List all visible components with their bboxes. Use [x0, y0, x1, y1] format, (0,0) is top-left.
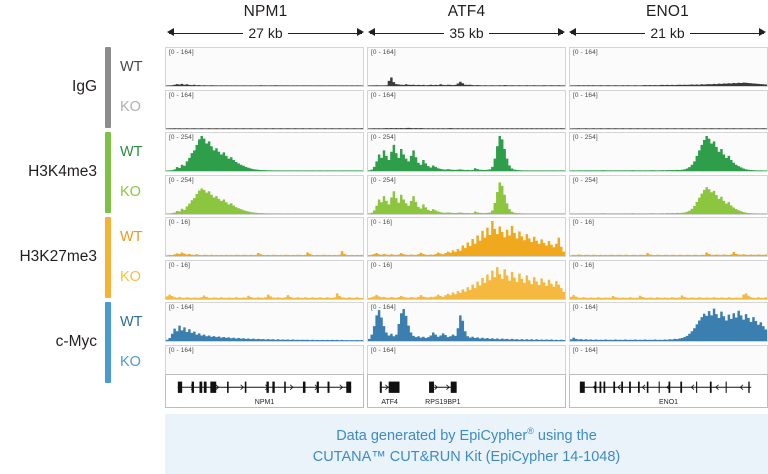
region-gene-label: NPM1: [165, 0, 366, 22]
track-baseline: [166, 255, 363, 256]
condition-label-wt: WT: [120, 132, 165, 172]
track-signal-plot: [570, 91, 767, 129]
track-cell-npm1[interactable]: [0 - 16]: [165, 260, 364, 300]
gene-exon-block: [629, 382, 631, 393]
track-cell-npm1[interactable]: [0 - 164]: [165, 47, 364, 87]
gene-exon-block: [638, 382, 640, 393]
track-scale-label: [0 - 164]: [169, 347, 194, 354]
arrow-left-icon: [569, 28, 576, 36]
track-baseline: [368, 298, 565, 299]
track-signal-plot: [570, 176, 767, 214]
track-signal-plot: [166, 91, 363, 129]
track-cell-npm1[interactable]: [0 - 254]: [165, 175, 364, 215]
gene-exon-block: [317, 382, 319, 393]
gene-model-panel-npm1[interactable]: NPM1: [165, 374, 364, 408]
track-cell-atf4[interactable]: [0 - 164]: [367, 302, 566, 342]
track-cell-atf4[interactable]: [0 - 16]: [367, 217, 566, 257]
condition-label-column: WTKO: [111, 217, 165, 297]
gene-exon-block: [595, 382, 597, 393]
gene-exon-block: [669, 382, 671, 393]
condition-label-ko: KO: [120, 257, 165, 297]
track-baseline: [570, 128, 767, 129]
target-name-label: H3K27me3: [0, 248, 105, 266]
region-span-label: 21 kb: [645, 25, 689, 41]
track-cell-eno1[interactable]: [0 - 164]: [569, 47, 768, 87]
arrow-left-icon: [167, 28, 174, 36]
gene-exon-block: [710, 382, 712, 393]
gene-exon-block: [659, 382, 660, 393]
gene-exon-block: [303, 382, 306, 393]
gene-exon-block: [284, 382, 286, 393]
attribution-footer: Data generated by EpiCypher® using the C…: [165, 414, 768, 474]
track-signal-plot: [368, 91, 565, 129]
gene-model-label: RPS19BP1: [425, 399, 460, 406]
region-span-ruler: 35 kb: [366, 22, 567, 44]
gene-model-panel-eno1[interactable]: ENO1: [569, 374, 768, 408]
gene-exon-block: [451, 382, 457, 393]
condition-label-wt: WT: [120, 217, 165, 257]
gene-exon-block: [178, 382, 182, 393]
track-baseline: [368, 128, 565, 129]
genome-browser-figure: NPM127 kbATF435 kbENO121 kb IgGWTKOH3K4m…: [0, 0, 768, 474]
footer-text-b: using the: [534, 427, 597, 443]
track-scale-label: [0 - 254]: [371, 134, 396, 141]
track-scale-label: [0 - 254]: [573, 177, 598, 184]
track-baseline: [368, 340, 565, 341]
track-row-igg-ko: [0 - 164][0 - 164][0 - 164]: [165, 90, 768, 130]
target-name-label: H3K4me3: [0, 163, 105, 181]
track-baseline: [368, 85, 565, 86]
gene-exon-block: [748, 382, 749, 393]
track-cell-eno1[interactable]: [0 - 164]: [569, 302, 768, 342]
condition-label-ko: KO: [120, 87, 165, 127]
region-header-npm1: NPM127 kb: [165, 0, 366, 46]
track-cell-npm1[interactable]: [0 - 16]: [165, 217, 364, 257]
gene-exon-block: [210, 382, 216, 393]
track-baseline: [368, 170, 565, 171]
gene-exon-block: [192, 382, 194, 393]
gene-exon-block: [429, 382, 434, 393]
gene-exon-block: [389, 382, 400, 393]
track-scale-label: [0 - 164]: [573, 347, 598, 354]
gene-exon-block: [696, 382, 697, 393]
track-baseline: [570, 255, 767, 256]
target-name-label: IgG: [0, 78, 105, 96]
track-scale-label: [0 - 16]: [371, 219, 392, 226]
track-scale-label: [0 - 254]: [573, 134, 598, 141]
footer-line-1: Data generated by EpiCypher® using the: [336, 420, 597, 447]
track-scale-label: [0 - 16]: [169, 219, 190, 226]
arrow-right-icon: [357, 28, 364, 36]
track-baseline: [570, 170, 767, 171]
track-signal-plot: [166, 303, 363, 341]
track-baseline: [166, 213, 363, 214]
track-scale-label: [0 - 164]: [371, 347, 396, 354]
region-span-label: 27 kb: [243, 25, 287, 41]
region-span-ruler: 27 kb: [165, 22, 366, 44]
track-cell-eno1[interactable]: [0 - 16]: [569, 260, 768, 300]
gene-exon-block: [613, 382, 615, 393]
arrow-right-icon: [759, 28, 766, 36]
region-gene-label: ATF4: [366, 0, 567, 22]
track-scale-label: [0 - 16]: [169, 262, 190, 269]
track-signal-plot: [368, 176, 565, 214]
gene-model-label: ENO1: [659, 399, 678, 406]
gene-exon-block: [204, 382, 207, 393]
target-label-column: IgGWTKOH3K4me3WTKOH3K27me3WTKOc-MycWTKO: [0, 47, 165, 377]
region-header-eno1: ENO121 kb: [567, 0, 768, 46]
gene-exon-block: [726, 382, 727, 393]
track-row-h3k27me3-wt: [0 - 16][0 - 16][0 - 16]: [165, 217, 768, 257]
track-baseline: [368, 255, 565, 256]
region-span-ruler: 21 kb: [567, 22, 768, 44]
track-cell-eno1[interactable]: [0 - 254]: [569, 175, 768, 215]
track-scale-label: [0 - 164]: [573, 304, 598, 311]
condition-label-wt: WT: [120, 47, 165, 87]
gene-exon-block: [380, 382, 382, 393]
gene-exon-block: [227, 382, 229, 393]
track-signal-plot: [570, 133, 767, 171]
track-signal-plot: [166, 133, 363, 171]
track-signal-plot: [570, 48, 767, 86]
track-baseline: [368, 213, 565, 214]
track-signal-plot: [368, 261, 565, 299]
track-scale-label: [0 - 164]: [371, 49, 396, 56]
track-cell-atf4[interactable]: [0 - 164]: [367, 47, 566, 87]
gene-model-panel-atf4[interactable]: ATF4RPS19BP1: [367, 374, 566, 408]
track-scale-label: [0 - 16]: [573, 219, 594, 226]
arrow-right-icon: [558, 28, 565, 36]
track-cell-npm1[interactable]: [0 - 254]: [165, 132, 364, 172]
track-scale-label: [0 - 16]: [371, 262, 392, 269]
track-signal-plot: [368, 48, 565, 86]
footer-line-2: CUTANA™ CUT&RUN Kit (EpiCypher 14-1048): [313, 446, 621, 468]
condition-label-ko: KO: [120, 342, 165, 382]
gene-annotation-row: NPM1ATF4RPS19BP1ENO1: [165, 374, 768, 408]
track-signal-plot: [570, 261, 767, 299]
gene-exon-block: [266, 382, 268, 393]
region-span-label: 35 kb: [444, 25, 488, 41]
condition-label-column: WTKO: [111, 132, 165, 212]
track-cell-atf4[interactable]: [0 - 16]: [367, 260, 566, 300]
track-signal-plot: [166, 176, 363, 214]
condition-label-column: WTKO: [111, 47, 165, 127]
track-scale-label: [0 - 254]: [169, 134, 194, 141]
target-group-cmyc: c-MycWTKO: [0, 302, 165, 382]
condition-label-column: WTKO: [111, 302, 165, 382]
track-signal-plot: [166, 218, 363, 256]
track-cell-atf4[interactable]: [0 - 164]: [367, 90, 566, 130]
track-scale-label: [0 - 164]: [573, 92, 598, 99]
target-name-label: c-Myc: [0, 333, 105, 351]
track-cell-eno1[interactable]: [0 - 16]: [569, 217, 768, 257]
track-scale-label: [0 - 16]: [573, 262, 594, 269]
footer-text-a: Data generated by EpiCypher: [336, 427, 527, 443]
track-row-h3k4me3-ko: [0 - 254][0 - 254][0 - 254]: [165, 175, 768, 215]
track-signal-plot: [166, 48, 363, 86]
signal-track-grid: [0 - 164][0 - 164][0 - 164][0 - 164][0 -…: [165, 47, 768, 377]
track-cell-atf4[interactable]: [0 - 254]: [367, 132, 566, 172]
track-signal-plot: [368, 303, 565, 341]
track-scale-label: [0 - 164]: [371, 304, 396, 311]
condition-label-wt: WT: [120, 302, 165, 342]
track-signal-plot: [570, 218, 767, 256]
track-scale-label: [0 - 164]: [573, 49, 598, 56]
track-row-igg-wt: [0 - 164][0 - 164][0 - 164]: [165, 47, 768, 87]
track-baseline: [166, 298, 363, 299]
track-row-h3k4me3-wt: [0 - 254][0 - 254][0 - 254]: [165, 132, 768, 172]
track-baseline: [570, 213, 767, 214]
region-header-row: NPM127 kbATF435 kbENO121 kb: [165, 0, 768, 46]
track-row-cmyc-wt: [0 - 164][0 - 164][0 - 164]: [165, 302, 768, 342]
gene-exon-block: [328, 382, 330, 393]
track-row-h3k27me3-ko: [0 - 16][0 - 16][0 - 16]: [165, 260, 768, 300]
gene-exon-block: [272, 382, 274, 393]
track-scale-label: [0 - 164]: [169, 49, 194, 56]
gene-model-label: NPM1: [255, 399, 274, 406]
gene-exon-block: [600, 382, 602, 393]
track-baseline: [570, 85, 767, 86]
track-scale-label: [0 - 164]: [169, 92, 194, 99]
track-scale-label: [0 - 254]: [371, 177, 396, 184]
track-cell-npm1[interactable]: [0 - 164]: [165, 302, 364, 342]
track-cell-npm1[interactable]: [0 - 164]: [165, 90, 364, 130]
track-signal-plot: [570, 303, 767, 341]
gene-exon-block: [647, 382, 649, 393]
track-signal-plot: [166, 261, 363, 299]
region-gene-label: ENO1: [567, 0, 768, 22]
track-cell-atf4[interactable]: [0 - 254]: [367, 175, 566, 215]
track-scale-label: [0 - 164]: [169, 304, 194, 311]
target-group-igg: IgGWTKO: [0, 47, 165, 127]
track-baseline: [166, 170, 363, 171]
track-cell-eno1[interactable]: [0 - 254]: [569, 132, 768, 172]
target-group-h3k27me3: H3K27me3WTKO: [0, 217, 165, 297]
gene-exon-block: [245, 382, 247, 393]
gene-model-label: ATF4: [381, 399, 398, 406]
track-baseline: [570, 340, 767, 341]
gene-exon-block: [199, 382, 202, 393]
region-header-atf4: ATF435 kb: [366, 0, 567, 46]
track-scale-label: [0 - 164]: [371, 92, 396, 99]
target-group-h3k4me3: H3K4me3WTKO: [0, 132, 165, 212]
arrow-left-icon: [368, 28, 375, 36]
gene-exon-block: [346, 382, 351, 393]
condition-label-ko: KO: [120, 172, 165, 212]
track-signal-plot: [368, 218, 565, 256]
track-signal-plot: [368, 133, 565, 171]
track-scale-label: [0 - 254]: [169, 177, 194, 184]
track-baseline: [166, 85, 363, 86]
gene-exon-block: [621, 382, 623, 393]
gene-exon-block: [580, 382, 585, 393]
gene-exon-block: [680, 382, 682, 393]
registered-trademark-icon: ®: [527, 426, 534, 436]
track-cell-eno1[interactable]: [0 - 164]: [569, 90, 768, 130]
track-baseline: [570, 298, 767, 299]
track-baseline: [166, 128, 363, 129]
track-baseline: [166, 340, 363, 341]
gene-exon-block: [603, 382, 605, 393]
